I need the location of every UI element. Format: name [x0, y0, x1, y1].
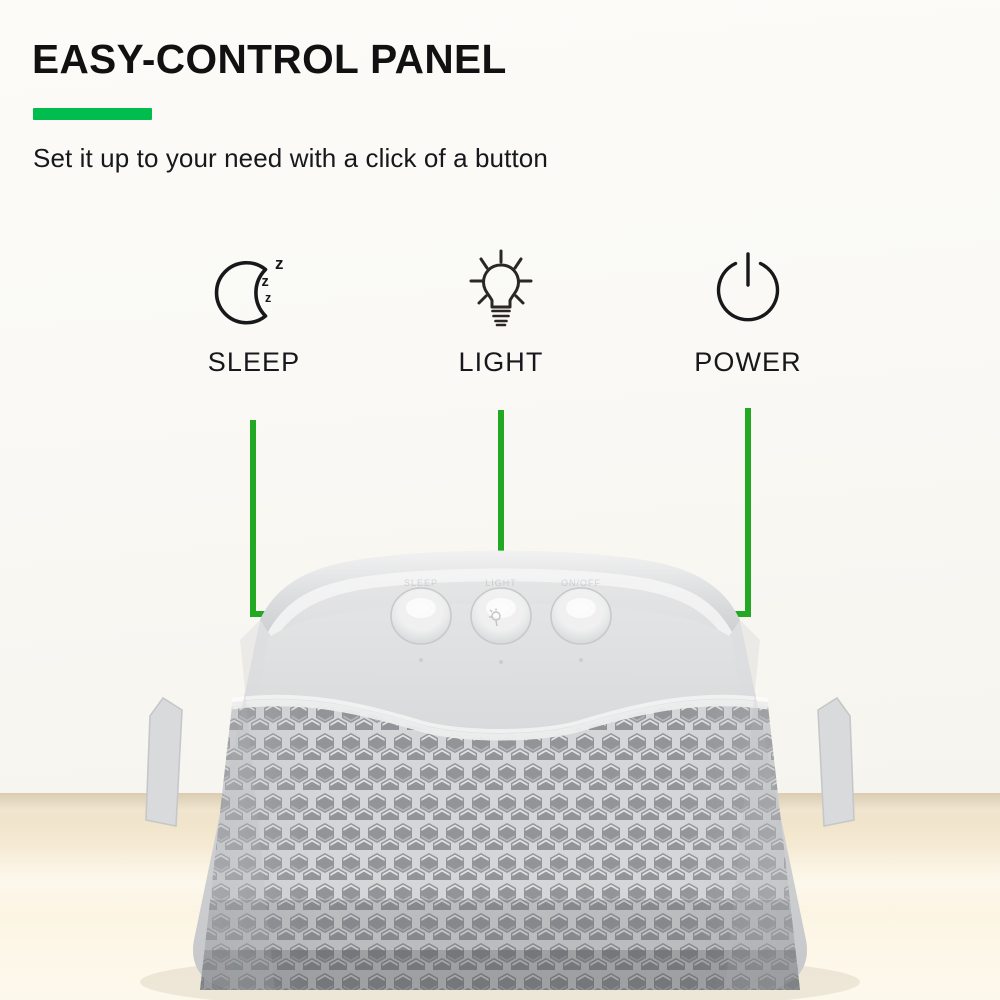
svg-text:z: z — [275, 254, 284, 273]
feature-label-power: POWER — [648, 347, 848, 378]
button-power — [551, 588, 611, 644]
feature-power: POWER — [648, 240, 848, 378]
handle-tab-left — [146, 698, 182, 826]
page-title: EASY-CONTROL PANEL — [32, 36, 507, 83]
svg-text:z: z — [262, 274, 269, 290]
feature-label-sleep: SLEEP — [154, 347, 354, 378]
light-bulb-icon — [401, 240, 601, 335]
feature-light: LIGHT — [401, 240, 601, 378]
feature-label-light: LIGHT — [401, 347, 601, 378]
feature-sleep: z z z SLEEP — [154, 240, 354, 378]
button-sleep — [391, 588, 451, 644]
infographic-canvas: EASY-CONTROL PANEL Set it up to your nee… — [0, 0, 1000, 1000]
accent-bar — [33, 108, 152, 120]
handle-tab-right — [818, 698, 854, 826]
power-icon — [648, 240, 848, 335]
printed-label-power: ON/OFF — [561, 578, 601, 588]
page-subtitle: Set it up to your need with a click of a… — [33, 143, 548, 174]
device-illustration: SLEEP LIGHT ON/OFF — [0, 520, 1000, 1000]
printed-label-sleep: SLEEP — [404, 578, 438, 588]
button-light — [471, 588, 531, 644]
printed-label-light: LIGHT — [485, 578, 517, 588]
svg-text:z: z — [265, 291, 271, 305]
moon-zzz-icon: z z z — [154, 240, 354, 335]
